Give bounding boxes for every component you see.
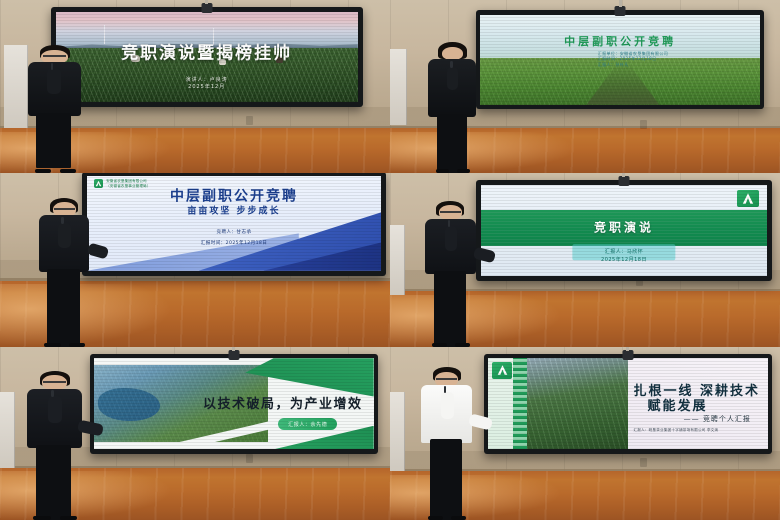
arm-left	[58, 223, 71, 248]
led-screen-1: 竞职演说暨揭榜挂帅 演讲人：卢良涛 2025年12月	[51, 7, 363, 108]
wind-turbine-icon	[213, 28, 214, 44]
door	[390, 392, 405, 472]
microphone-icon	[444, 386, 447, 393]
camera-icon	[615, 6, 626, 16]
slide-2-meta-2: 汇报时间：2025年12月18日	[598, 56, 657, 61]
panel-5: 以技术破局，为产业增效 汇报人：余先德	[0, 347, 390, 520]
legs	[36, 113, 71, 168]
slide-3-meta-1: 竞聘人：甘志承	[217, 230, 252, 236]
glasses-icon	[54, 208, 75, 210]
slide-3-meta-2: 汇报时间：2025年12月18日	[201, 241, 268, 247]
slide-sky	[56, 12, 358, 48]
glasses-icon	[440, 211, 461, 213]
screen-bezel: 以技术破局，为产业增效 汇报人：余先德	[90, 354, 379, 455]
logo-a-icon	[492, 362, 512, 379]
screen-surface: 竞职演说 汇报人：马欣怀 2025年12月18日	[481, 185, 768, 276]
slide-plantation-photo	[527, 358, 628, 449]
slide-5-title: 以技术破局，为产业增效	[203, 397, 363, 413]
panel-1: 竞职演说暨揭榜挂帅 演讲人：卢良涛 2025年12月	[0, 0, 390, 173]
screen-surface: 扎根一线 深耕技术 赋能发展 —— 竞聘个人汇报 汇报人：皖垦茶业集团十字铺茶场…	[488, 358, 767, 449]
microphone-icon	[448, 220, 451, 227]
led-screen-4: 竞职演说 汇报人：马欣怀 2025年12月18日	[476, 180, 772, 281]
screen-surface: 中层副职公开竞聘 汇报单位：安徽省农垦集团有限公司 汇报时间：2025年12月1…	[480, 15, 759, 105]
presenter-4	[421, 201, 480, 347]
presenter-5	[23, 371, 85, 520]
screen-bezel: 中层副职公开竞聘 汇报单位：安徽省农垦集团有限公司 汇报时间：2025年12月1…	[476, 10, 765, 109]
screen-surface: 安徽省农垦集团有限公司 （安徽省农垦事业管理局） 中层副职公开竞聘 亩亩攻坚 步…	[87, 176, 381, 270]
slide-6-subtitle: —— 竞聘个人汇报	[684, 415, 751, 424]
logo-a-icon	[94, 179, 103, 188]
door	[390, 49, 407, 125]
panel-4: 竞职演说 汇报人：马欣怀 2025年12月18日	[390, 173, 780, 346]
screen-bezel: 竞职演说 汇报人：马欣怀 2025年12月18日	[476, 180, 772, 281]
legs	[36, 445, 71, 520]
arm-left	[47, 68, 61, 94]
screen-bezel: 扎根一线 深耕技术 赋能发展 —— 竞聘个人汇报 汇报人：皖垦茶业集团十字铺茶场…	[484, 354, 773, 455]
camera-icon	[228, 350, 239, 360]
slide-4-meta-2: 2025年12月18日	[601, 257, 647, 263]
glasses-icon	[43, 381, 65, 383]
wall-vent	[640, 458, 647, 467]
panel-3: 安徽省农垦集团有限公司 （安徽省农垦事业管理局） 中层副职公开竞聘 亩亩攻坚 步…	[0, 173, 390, 346]
glasses-icon	[436, 378, 457, 380]
screen-surface: 竞职演说暨揭榜挂帅 演讲人：卢良涛 2025年12月	[56, 12, 358, 103]
led-screen-2: 中层副职公开竞聘 汇报单位：安徽省农垦集团有限公司 汇报时间：2025年12月1…	[476, 10, 765, 109]
slide-1-meta-2: 2025年12月	[188, 84, 225, 90]
microphone-icon	[450, 61, 453, 68]
led-screen-5: 以技术破局，为产业增效 汇报人：余先德	[90, 354, 379, 455]
panel-6: 扎根一线 深耕技术 赋能发展 —— 竞聘个人汇报 汇报人：皖垦茶业集团十字铺茶场…	[390, 347, 780, 520]
arm-left	[445, 226, 458, 251]
screen-bezel: 竞职演说暨揭榜挂帅 演讲人：卢良涛 2025年12月	[51, 7, 363, 108]
slide-green-bar	[513, 358, 527, 449]
door	[390, 225, 405, 294]
legs	[430, 439, 462, 520]
camera-icon	[622, 350, 633, 360]
logo-text-line-2: （安徽省农垦事业管理局）	[106, 184, 150, 188]
presenter-1	[23, 45, 85, 173]
logo-a-icon	[737, 190, 759, 207]
microphone-icon	[61, 217, 64, 224]
presenter-2	[425, 42, 480, 174]
arm-left	[441, 392, 454, 419]
slide-6-title-line-2: 赋能发展	[647, 399, 707, 415]
arm-left	[447, 67, 458, 91]
camera-icon	[618, 176, 629, 186]
wall-vent	[640, 120, 647, 129]
slide-3-subtitle: 亩亩攻坚 步步成长	[187, 207, 280, 218]
photo-collage: 竞职演说暨揭榜挂帅 演讲人：卢良涛 2025年12月	[0, 0, 780, 520]
wall-vent	[246, 116, 253, 125]
presenter-6	[417, 367, 476, 520]
shoe	[60, 516, 77, 520]
shoe	[451, 516, 466, 520]
slide-1-meta-1: 演讲人：卢良涛	[186, 77, 228, 83]
led-screen-3: 安徽省农垦集团有限公司 （安徽省农垦事业管理局） 中层副职公开竞聘 亩亩攻坚 步…	[82, 173, 386, 275]
led-screen-6: 扎根一线 深耕技术 赋能发展 —— 竞聘个人汇报 汇报人：皖垦茶业集团十字铺茶场…	[484, 354, 773, 455]
legs	[434, 271, 466, 347]
slide-1-title: 竞职演说暨揭榜挂帅	[121, 44, 292, 65]
slide-5-badge: 汇报人：余先德	[278, 418, 337, 430]
legs	[437, 114, 466, 173]
door	[0, 392, 15, 468]
corporate-logo: 安徽省农垦集团有限公司 （安徽省农垦事业管理局）	[94, 179, 150, 188]
slide-4-title: 竞职演说	[594, 220, 654, 235]
shoe	[33, 516, 50, 520]
panel-2: 中层副职公开竞聘 汇报单位：安徽省农垦集团有限公司 汇报时间：2025年12月1…	[390, 0, 780, 173]
slide-2-meta-3: 汇报人：孙叶凡	[598, 62, 629, 67]
slide-6-title-line-1: 扎根一线 深耕技术	[633, 384, 760, 400]
presenter-3	[35, 198, 94, 347]
camera-icon	[201, 3, 212, 13]
screen-surface: 以技术破局，为产业增效 汇报人：余先德	[94, 358, 373, 449]
slide-4-meta-1: 汇报人：马欣怀	[605, 249, 644, 255]
microphone-icon	[51, 63, 54, 70]
arm-left	[48, 396, 62, 423]
wall-vent	[246, 454, 253, 463]
microphone-icon	[51, 390, 54, 397]
shoe	[428, 516, 443, 520]
legs	[47, 269, 80, 347]
screen-bezel: 安徽省农垦集团有限公司 （安徽省农垦事业管理局） 中层副职公开竞聘 亩亩攻坚 步…	[82, 173, 386, 275]
slide-6-meta-1: 汇报人：皖垦茶业集团十字铺茶场有限公司 李文焕	[633, 428, 718, 432]
wind-turbine-icon	[104, 25, 105, 45]
slide-2-title: 中层副职公开竞聘	[564, 35, 676, 49]
slide-3-title: 中层副职公开竞聘	[170, 188, 298, 206]
glasses-icon	[43, 55, 67, 57]
